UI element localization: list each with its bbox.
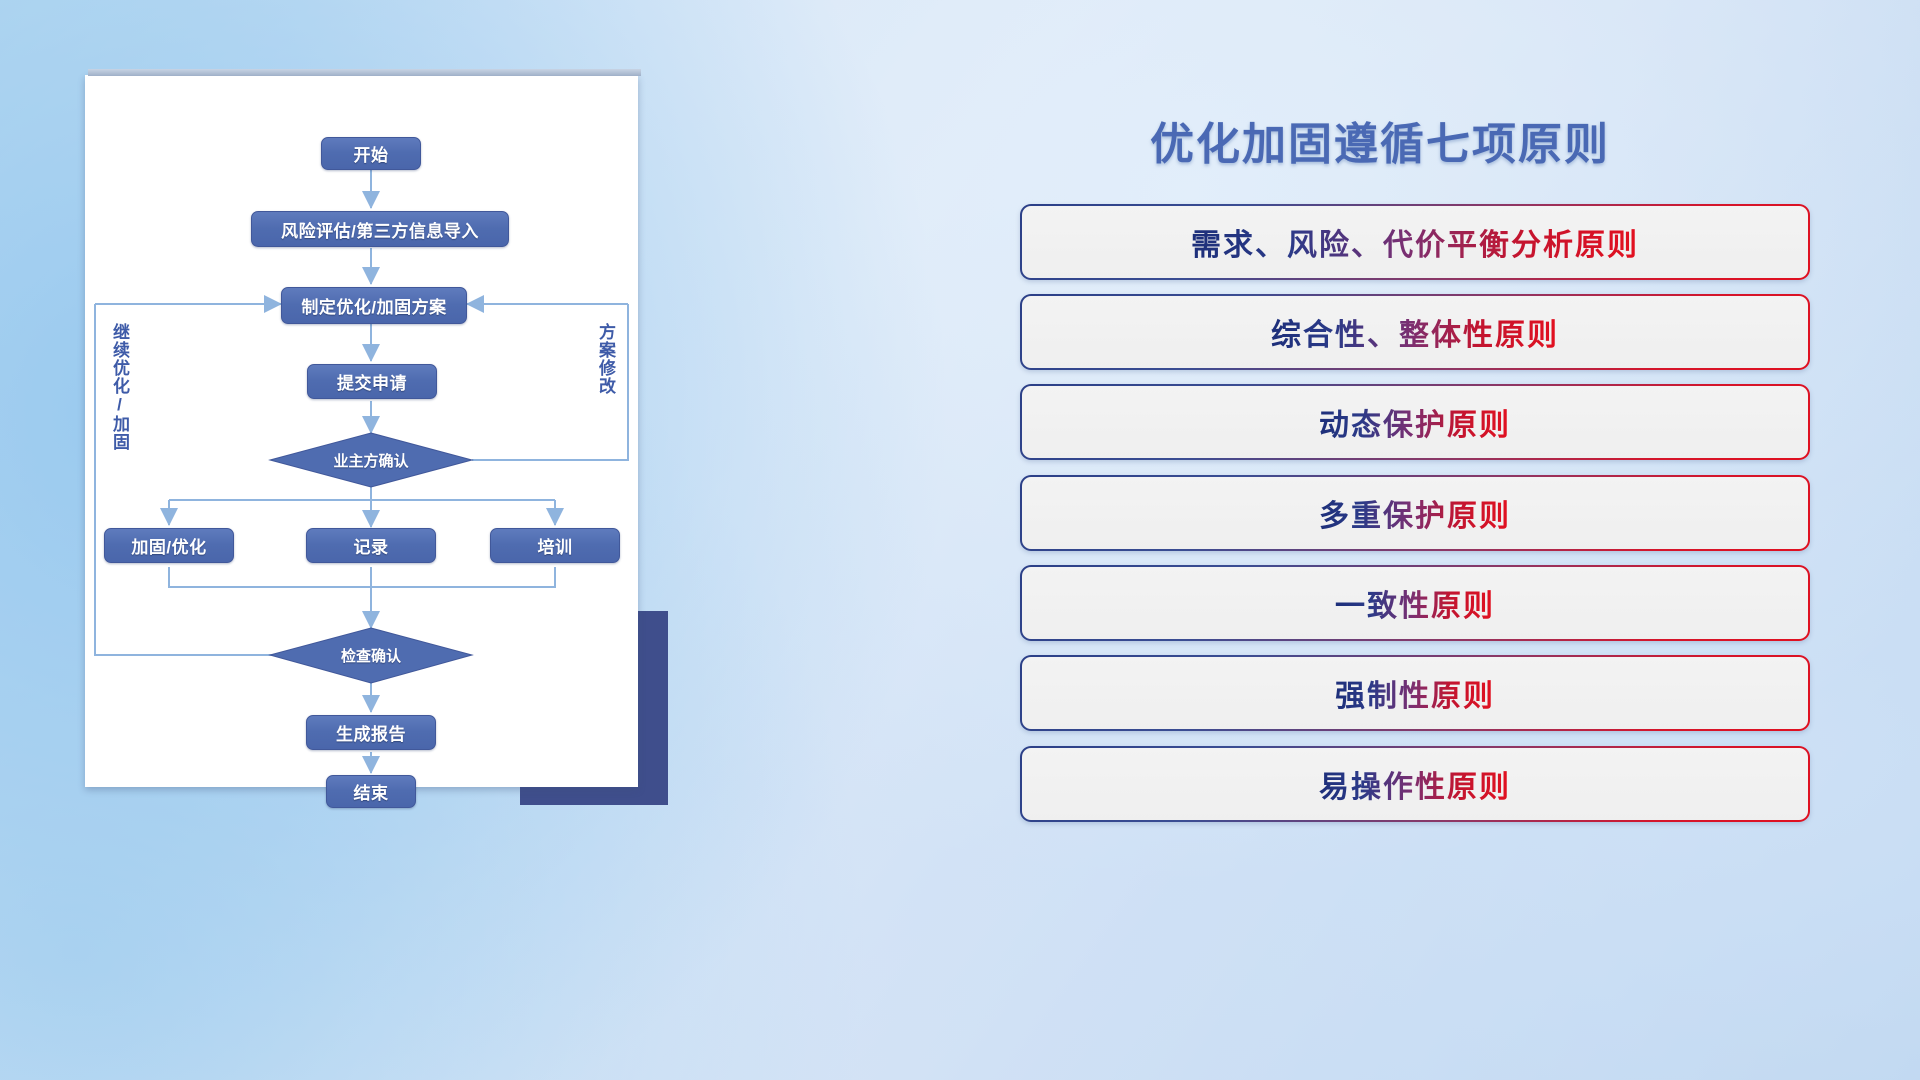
flowchart-panel: 开始 风险评估/第三方信息导入 制定优化/加固方案 提交申请 业主方确认 加固/… bbox=[85, 75, 647, 790]
principles-panel: 优化加固遵循七项原则 需求、风险、代价平衡分析原则 综合性、整体性原则 动态保护… bbox=[1020, 90, 1840, 990]
flowchart-card: 开始 风险评估/第三方信息导入 制定优化/加固方案 提交申请 业主方确认 加固/… bbox=[85, 75, 638, 787]
principle-card-7-label: 易操作性原则 bbox=[1319, 762, 1511, 806]
node-generate-report[interactable]: 生成报告 bbox=[306, 715, 436, 750]
node-risk-assessment-label: 风险评估/第三方信息导入 bbox=[281, 217, 479, 242]
node-training-label: 培训 bbox=[538, 533, 573, 558]
node-start[interactable]: 开始 bbox=[321, 137, 421, 170]
node-end-label: 结束 bbox=[354, 779, 389, 804]
decision-owner-confirm-label: 业主方确认 bbox=[301, 447, 441, 473]
node-submit-application[interactable]: 提交申请 bbox=[307, 364, 437, 399]
node-training[interactable]: 培训 bbox=[490, 528, 620, 563]
principle-card-5[interactable]: 一致性原则 bbox=[1020, 565, 1810, 641]
principle-card-4[interactable]: 多重保护原则 bbox=[1020, 475, 1810, 551]
principle-card-5-label: 一致性原则 bbox=[1335, 581, 1495, 625]
node-reinforce-optimize[interactable]: 加固/优化 bbox=[104, 528, 234, 563]
decision-final-check-label: 检查确认 bbox=[301, 642, 441, 668]
node-make-plan-label: 制定优化/加固方案 bbox=[301, 293, 446, 318]
node-record[interactable]: 记录 bbox=[306, 528, 436, 563]
node-record-label: 记录 bbox=[354, 533, 389, 558]
principle-card-2-label: 综合性、整体性原则 bbox=[1271, 310, 1559, 354]
node-submit-application-label: 提交申请 bbox=[337, 369, 407, 394]
node-make-plan[interactable]: 制定优化/加固方案 bbox=[281, 287, 467, 324]
node-end[interactable]: 结束 bbox=[326, 775, 416, 808]
edge-label-plan-revision: 方案修改 bbox=[593, 323, 618, 395]
node-generate-report-label: 生成报告 bbox=[336, 720, 406, 745]
flowchart-connectors bbox=[85, 75, 638, 787]
principle-card-6[interactable]: 强制性原则 bbox=[1020, 655, 1810, 731]
edge-label-continue-optimize: 继续优化/加固 bbox=[107, 323, 132, 451]
principle-card-7[interactable]: 易操作性原则 bbox=[1020, 746, 1810, 822]
principle-card-1-label: 需求、风险、代价平衡分析原则 bbox=[1191, 220, 1639, 264]
node-start-label: 开始 bbox=[354, 141, 389, 166]
principle-card-4-label: 多重保护原则 bbox=[1319, 491, 1511, 535]
principle-card-1[interactable]: 需求、风险、代价平衡分析原则 bbox=[1020, 204, 1810, 280]
node-reinforce-optimize-label: 加固/优化 bbox=[131, 533, 206, 558]
node-risk-assessment[interactable]: 风险评估/第三方信息导入 bbox=[251, 211, 509, 247]
principle-card-2[interactable]: 综合性、整体性原则 bbox=[1020, 294, 1810, 370]
principle-card-3[interactable]: 动态保护原则 bbox=[1020, 384, 1810, 460]
principle-card-3-label: 动态保护原则 bbox=[1319, 400, 1511, 444]
principle-card-6-label: 强制性原则 bbox=[1335, 671, 1495, 715]
principles-title: 优化加固遵循七项原则 bbox=[1150, 108, 1610, 172]
